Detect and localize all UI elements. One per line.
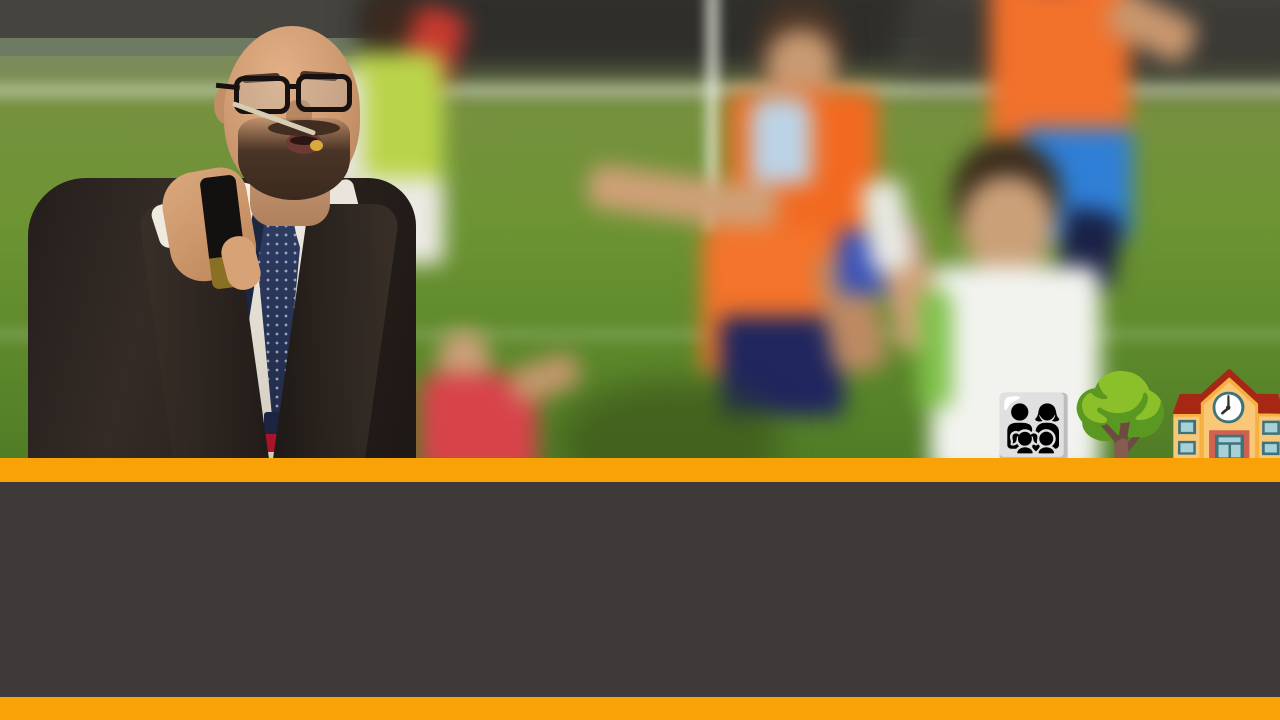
tree-icon: 🌳 — [1066, 376, 1176, 458]
caption-panel: CLAVES PARA EL DESARROLLO DEL TALENTO EN… — [0, 482, 1280, 697]
emoji-overlay: 👨‍👩‍👧‍👦 🌳 🏫 — [995, 352, 1280, 458]
accent-bar-bottom — [0, 697, 1280, 720]
glasses-bridge — [286, 84, 300, 89]
family-icon: 👨‍👩‍👧‍👦 — [995, 396, 1072, 458]
presentation-slide: 👨‍👩‍👧‍👦 🌳 🏫 CLAVES PARA EL DESARROLLO DE… — [0, 0, 1280, 720]
school-icon: 🏫 — [1164, 362, 1280, 458]
accent-bar-top — [0, 458, 1280, 482]
glasses-lens-right — [296, 74, 352, 112]
speaker-portrait — [28, 8, 418, 458]
header-photo: 👨‍👩‍👧‍👦 🌳 🏫 — [0, 0, 1280, 458]
headset-mic-tip — [310, 140, 323, 151]
